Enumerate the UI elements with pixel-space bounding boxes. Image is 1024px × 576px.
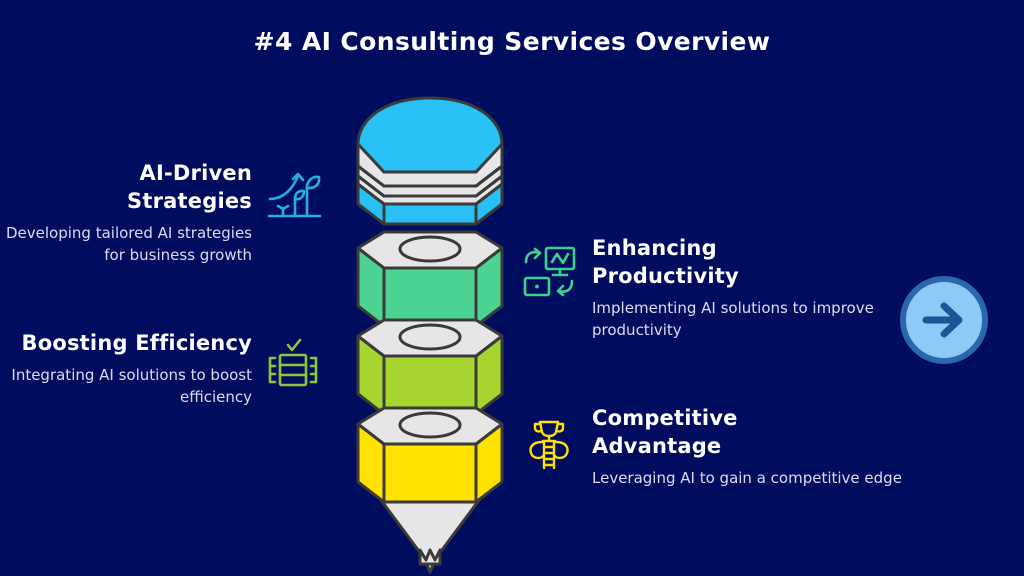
page-title: #4 AI Consulting Services Overview	[0, 27, 1024, 56]
feature-description: Integrating AI solutions to boost effici…	[0, 364, 252, 408]
feature-heading: Competitive Advantage	[592, 405, 738, 461]
feature-heading: AI-Driven Strategies	[127, 160, 252, 216]
feature-description: Leveraging AI to gain a competitive edge	[592, 467, 902, 489]
feature-text-block: Boosting Efficiency Integrating AI solut…	[0, 330, 252, 408]
feature-heading-line2: Advantage	[592, 434, 721, 458]
feature-text-block: AI-Driven Strategies Developing tailored…	[0, 160, 252, 266]
feature-text-block: Competitive Advantage Leveraging AI to g…	[592, 405, 902, 489]
trophy-ladder-icon	[520, 415, 578, 473]
feature-heading-line1: Competitive	[592, 406, 738, 430]
feature-competitive-advantage: Competitive Advantage Leveraging AI to g…	[520, 405, 940, 489]
feature-heading-line2: Strategies	[127, 189, 252, 213]
funnel-segment-top	[356, 98, 502, 234]
plant-growth-arrow-icon	[264, 168, 322, 226]
next-slide-button[interactable]	[900, 276, 988, 364]
monitor-sync-chart-icon	[520, 243, 578, 301]
funnel-segment-bottom	[358, 408, 502, 502]
funnel-segment-second	[358, 232, 502, 326]
feature-description: Developing tailored AI strategies for bu…	[0, 222, 252, 266]
feature-heading-line1: Enhancing	[592, 236, 717, 260]
feature-heading-line2: Productivity	[592, 264, 739, 288]
layered-funnel-graphic	[336, 80, 524, 576]
feature-ai-driven-strategies: AI-Driven Strategies Developing tailored…	[0, 160, 322, 266]
feature-enhancing-productivity: Enhancing Productivity Implementing AI s…	[520, 235, 940, 341]
feature-boosting-efficiency: Boosting Efficiency Integrating AI solut…	[0, 330, 322, 408]
slide-canvas: #4 AI Consulting Services Overview	[0, 0, 1024, 576]
checklist-table-check-icon	[264, 336, 322, 394]
feature-heading: Boosting Efficiency	[22, 330, 252, 358]
feature-heading: Enhancing Productivity	[592, 235, 739, 291]
funnel-segment-third	[358, 320, 502, 414]
feature-text-block: Enhancing Productivity Implementing AI s…	[592, 235, 940, 341]
feature-description: Implementing AI solutions to improve pro…	[592, 297, 940, 341]
feature-heading-line1: AI-Driven	[140, 161, 252, 185]
